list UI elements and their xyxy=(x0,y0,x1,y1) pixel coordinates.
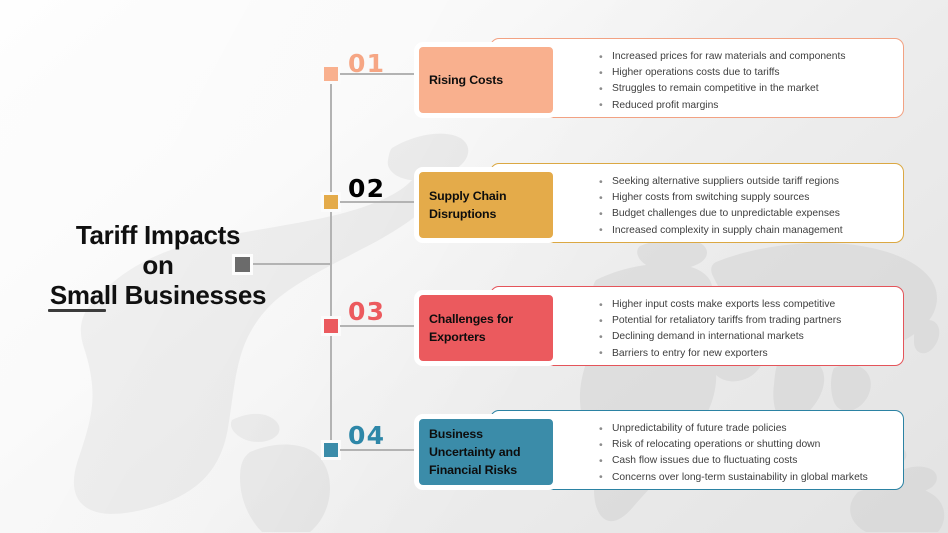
bullet-item: Reduced profit margins xyxy=(599,98,891,114)
bullet-item: Higher input costs make exports less com… xyxy=(599,297,891,313)
heading-box-02[interactable]: Supply ChainDisruptions xyxy=(414,167,558,243)
row-number-03: 03 xyxy=(348,297,385,326)
bullet-item: Unpredictability of future trade policie… xyxy=(599,421,891,437)
bullet-item: Higher operations costs due to tariffs xyxy=(599,65,891,81)
bullet-item: Increased complexity in supply chain man… xyxy=(599,223,891,239)
bullet-item: Cash flow issues due to fluctuating cost… xyxy=(599,453,891,469)
heading-label-04: BusinessUncertainty andFinancial Risks xyxy=(419,425,520,479)
row-number-01: 01 xyxy=(348,49,385,78)
bullet-item: Risk of relocating operations or shuttin… xyxy=(599,437,891,453)
heading-label-02: Supply ChainDisruptions xyxy=(419,187,506,223)
marker-square-03 xyxy=(321,316,341,336)
bullet-item: Seeking alternative suppliers outside ta… xyxy=(599,174,891,190)
marker-square-04 xyxy=(321,440,341,460)
marker-square-01 xyxy=(321,64,341,84)
heading-label-03: Challenges forExporters xyxy=(419,310,513,346)
heading-box-04[interactable]: BusinessUncertainty andFinancial Risks xyxy=(414,414,558,490)
center-marker-square xyxy=(232,254,253,275)
heading-box-03[interactable]: Challenges forExporters xyxy=(414,290,558,366)
title-line-3: Small Businesses xyxy=(28,280,288,310)
title-line-1: Tariff Impacts xyxy=(28,220,288,250)
bullet-item: Struggles to remain competitive in the m… xyxy=(599,81,891,97)
row-number-02: 02 xyxy=(348,174,385,203)
heading-box-01[interactable]: Rising Costs xyxy=(414,42,558,118)
timeline-spine xyxy=(330,74,332,456)
bullet-item: Increased prices for raw materials and c… xyxy=(599,49,891,65)
row-number-04: 04 xyxy=(348,421,385,450)
title-underline xyxy=(48,309,106,312)
bullet-item: Declining demand in international market… xyxy=(599,329,891,345)
bullet-item: Higher costs from switching supply sourc… xyxy=(599,190,891,206)
bullet-item: Budget challenges due to unpredictable e… xyxy=(599,206,891,222)
marker-square-02 xyxy=(321,192,341,212)
title-connector-line xyxy=(252,263,332,265)
heading-label-01: Rising Costs xyxy=(419,71,503,89)
bullet-item: Concerns over long-term sustainability i… xyxy=(599,470,891,486)
infographic-canvas: Tariff Impacts on Small Businesses 01 In… xyxy=(0,0,948,533)
bullet-item: Potential for retaliatory tariffs from t… xyxy=(599,313,891,329)
bullet-item: Barriers to entry for new exporters xyxy=(599,346,891,362)
